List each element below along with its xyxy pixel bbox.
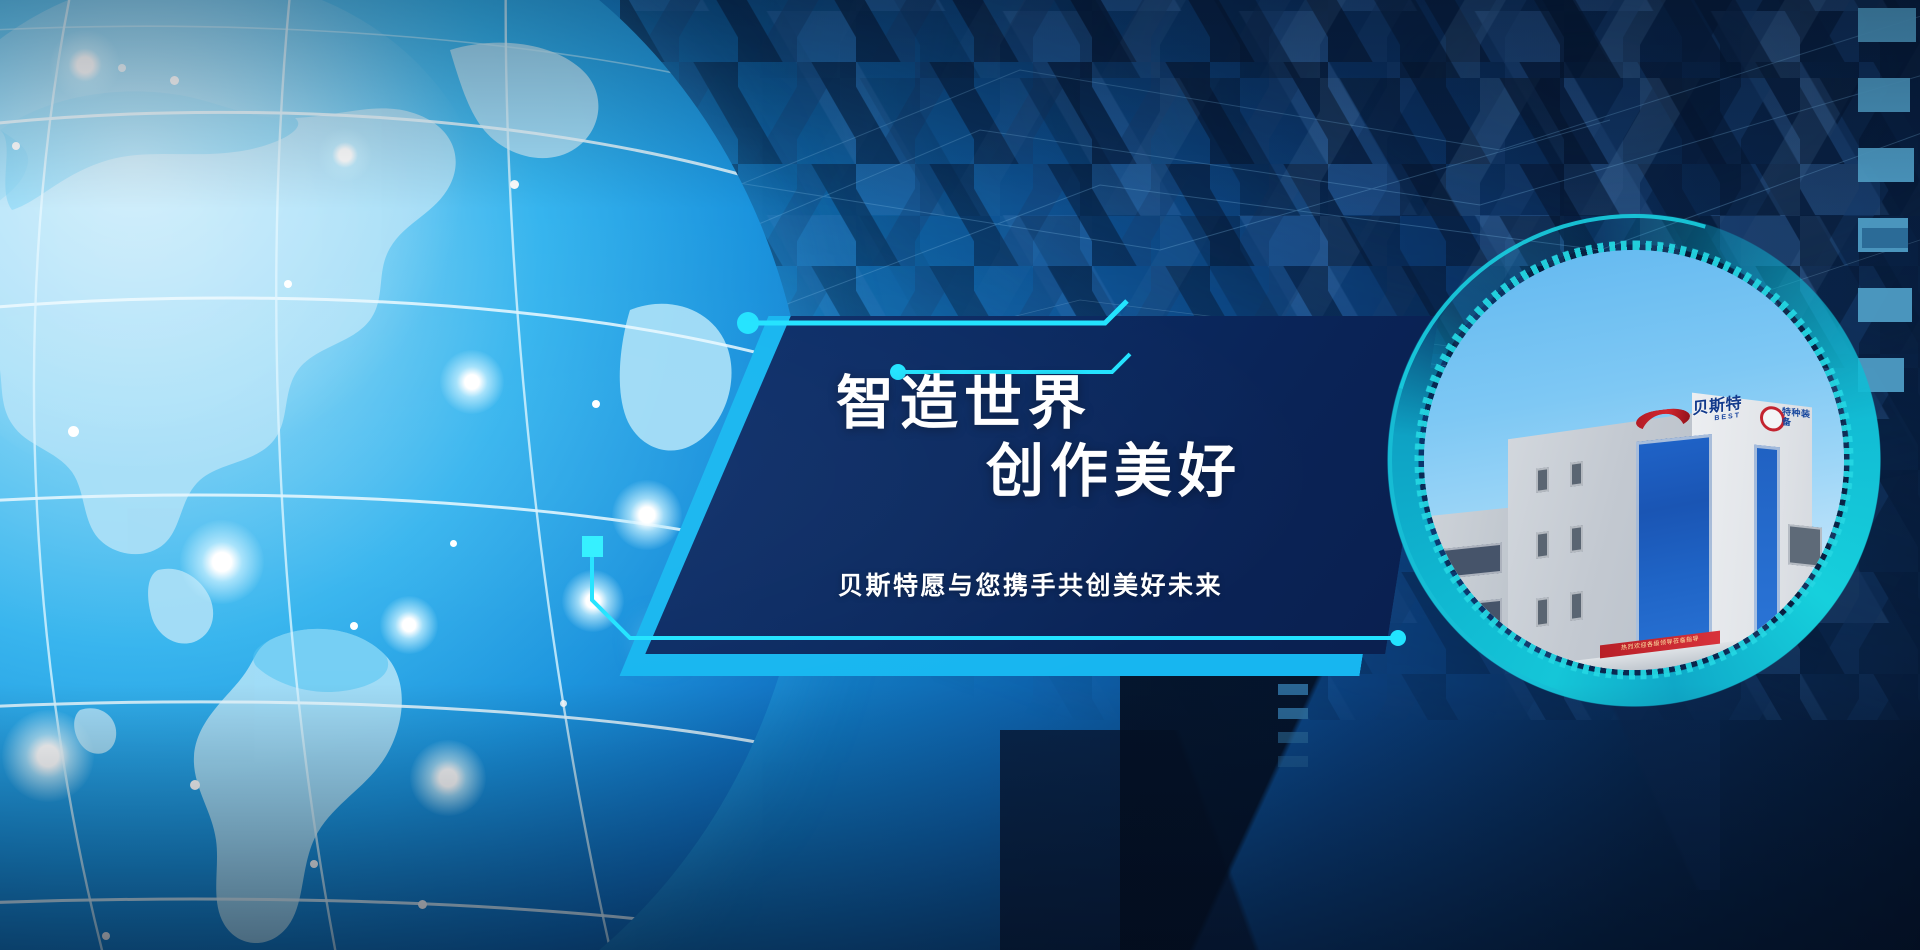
secondary-building-logo: 特种装备 — [1760, 403, 1816, 435]
secondary-logo-text: 特种装备 — [1782, 407, 1816, 430]
sparkle — [380, 596, 438, 654]
edge-bar — [1858, 78, 1910, 112]
circuit-node-dot — [737, 312, 759, 334]
glow-node — [180, 520, 264, 604]
edge-bar — [1858, 8, 1916, 42]
glow-node — [50, 30, 120, 100]
headline-block: 智造世界 创作美好 — [836, 370, 1436, 507]
dash-mark — [1278, 708, 1308, 719]
edge-bar — [1858, 148, 1914, 182]
hero-banner: 智造世界 创作美好 贝斯特愿与您携手共创美好未来 — [0, 0, 1920, 950]
headline-line-1: 智造世界 — [836, 370, 1436, 438]
dash-mark — [1278, 732, 1308, 743]
circular-photo-frame: 贝斯特 BEST 特种装备 热烈欢迎各级领导莅临指导 — [1386, 212, 1882, 708]
glow-node — [318, 128, 372, 182]
signage-swoosh-logo — [1636, 406, 1690, 433]
building-glass-strip — [1754, 445, 1780, 636]
headline-line-2: 创作美好 — [986, 438, 1436, 506]
dash-mark — [1278, 756, 1308, 767]
banner-subtitle: 贝斯特愿与您携手共创美好未来 — [838, 566, 1223, 602]
headquarters-photo: 贝斯特 BEST 特种装备 热烈欢迎各级领导莅临指导 — [1424, 250, 1844, 670]
glow-node — [410, 740, 486, 816]
circuit-square-marker — [582, 536, 603, 557]
glow-node — [440, 350, 504, 414]
glow-node — [2, 710, 94, 802]
